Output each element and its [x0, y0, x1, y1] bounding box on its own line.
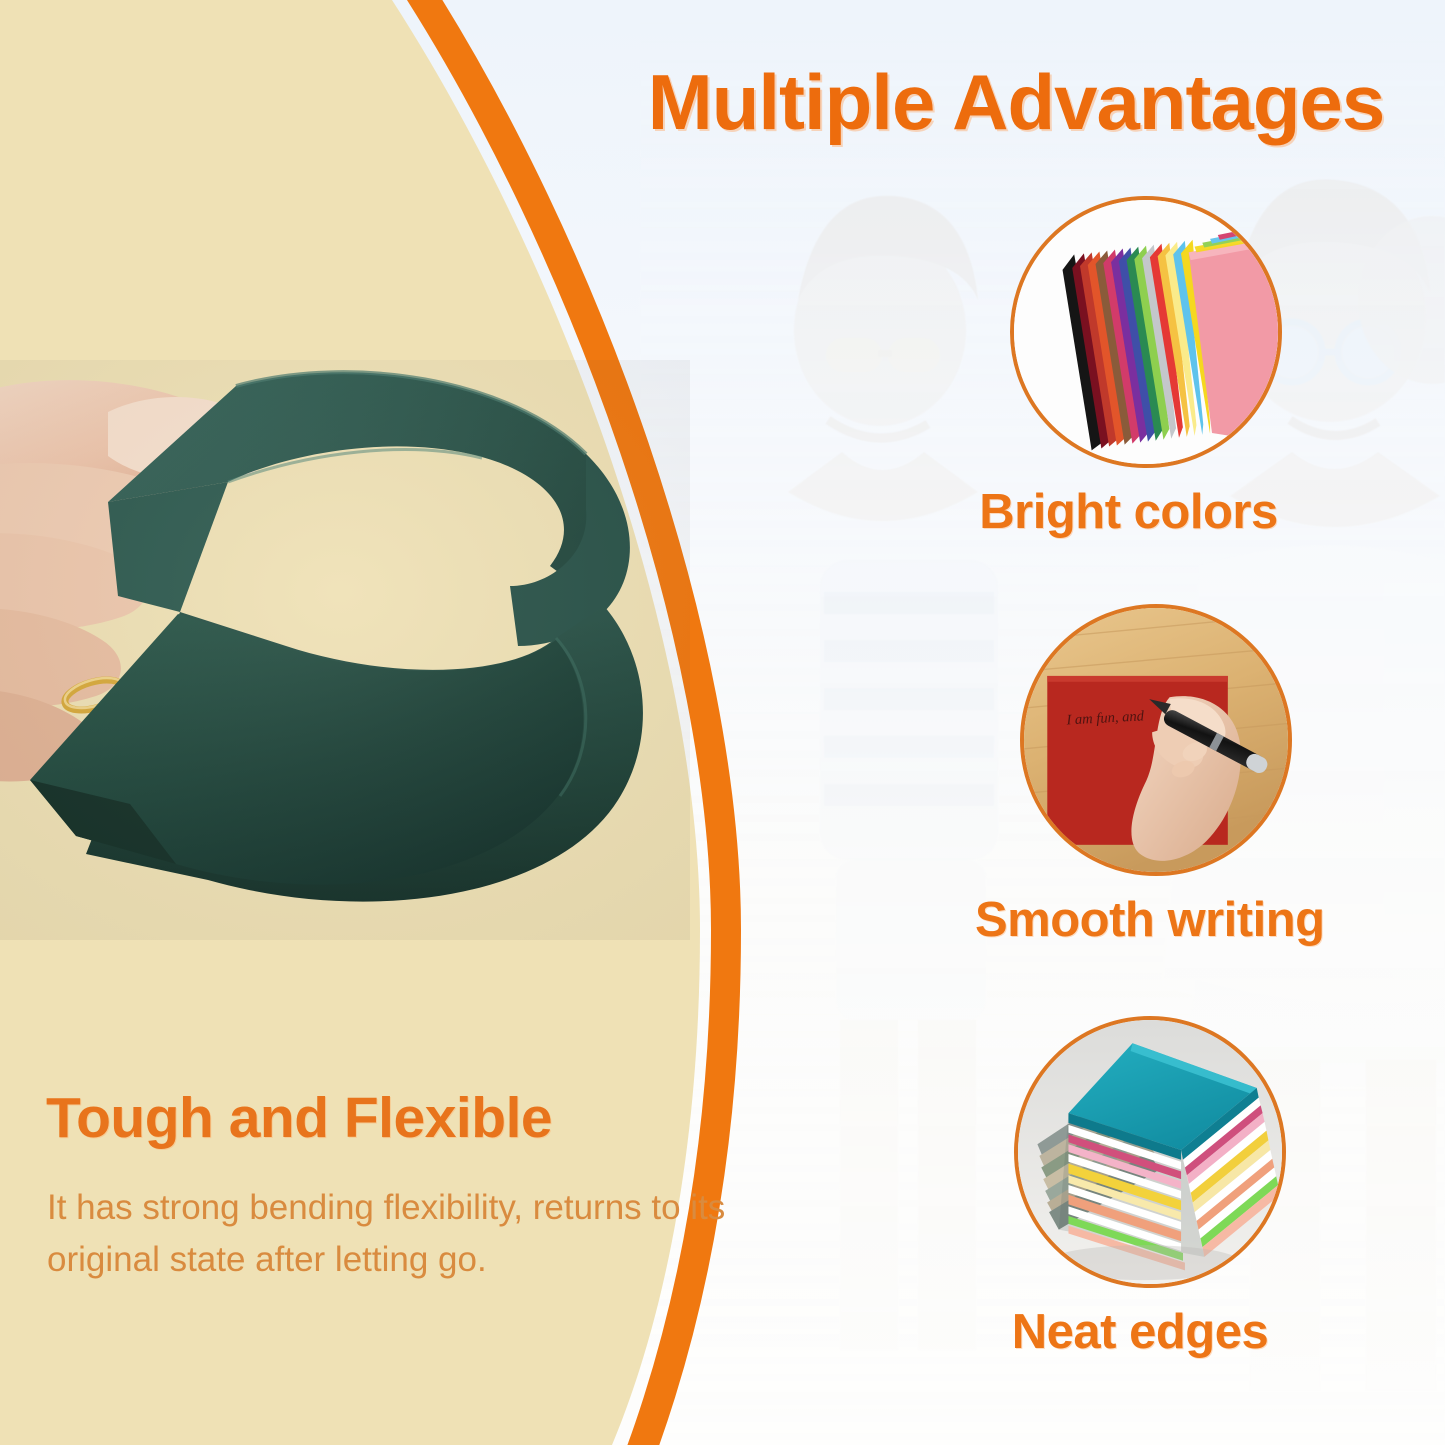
feature-label: Smooth writing	[975, 892, 1325, 948]
feature-bright-colors: Bright colors	[1010, 196, 1282, 540]
hero-bending-paper-image	[0, 360, 690, 940]
feature-neat-edges: Neat edges	[1014, 1016, 1286, 1360]
infographic-poster: Multiple Advantages Tough and Flexible I…	[0, 0, 1445, 1445]
feature-label: Bright colors	[975, 484, 1282, 540]
left-panel-body-text: It has strong bending flexibility, retur…	[47, 1182, 747, 1286]
feature-image-circle	[1014, 1016, 1286, 1288]
feature-image-circle: I am fun, and	[1020, 604, 1292, 876]
left-panel-heading: Tough and Flexible	[46, 1085, 552, 1151]
hand-writing-on-card-image: I am fun, and	[1024, 608, 1288, 872]
stacked-cardstock-edges-image	[1018, 1020, 1282, 1284]
feature-image-circle	[1010, 196, 1282, 468]
page-title: Multiple Advantages	[596, 57, 1436, 148]
colored-paper-fan-image	[1014, 200, 1278, 464]
feature-label: Neat edges	[994, 1304, 1286, 1360]
green-cardstock	[0, 360, 690, 940]
feature-smooth-writing: I am fun, and Smooth writing	[1020, 604, 1325, 948]
